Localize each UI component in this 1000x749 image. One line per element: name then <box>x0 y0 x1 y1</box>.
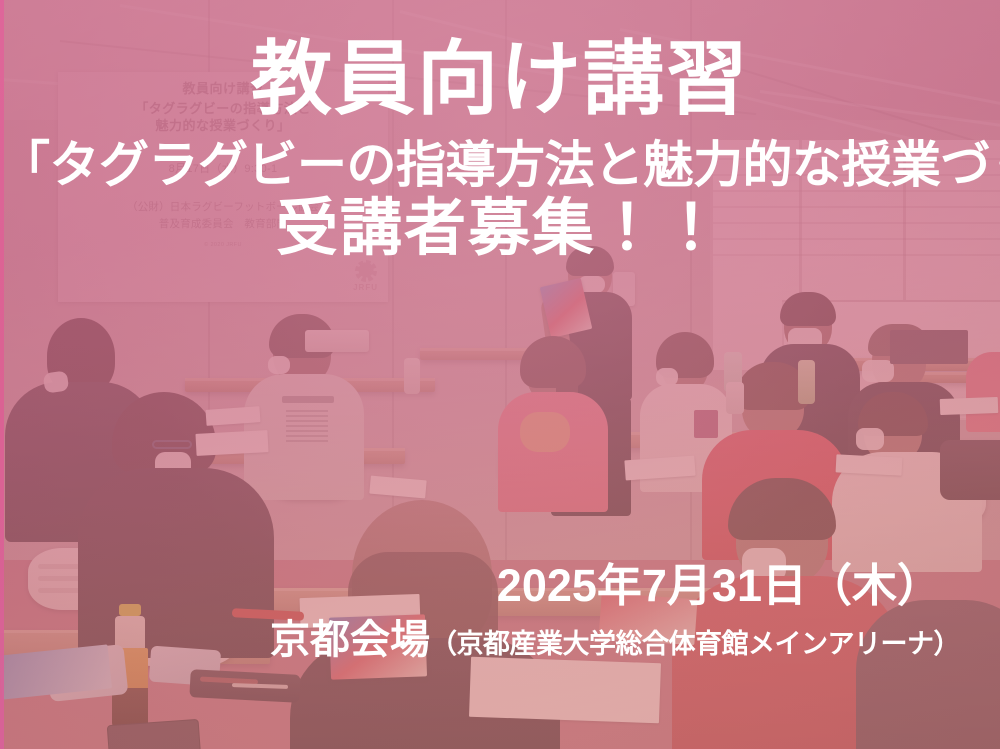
poster-call-to-action: 受講者募集！！ <box>0 198 1000 260</box>
text-overlay: 教員向け講習 「タグラグビーの指導方法と魅力的な授業づくり」 受講者募集！！ 2… <box>0 0 1000 749</box>
event-date: 2025年7月31日（木） <box>497 549 942 614</box>
poster-headline: 教員向け講習 <box>0 40 1000 121</box>
poster-container: 教員向け講習 「タグラグビーの指導方法と 魅力的な授業づくり」 8月17日（水）… <box>0 0 1000 749</box>
poster-subtitle: 「タグラグビーの指導方法と魅力的な授業づくり」 <box>0 140 1000 190</box>
venue-name: 京都会場 <box>270 607 430 665</box>
event-venue: 京都会場 （京都産業大学総合体育館メインアリーナ） <box>270 607 960 665</box>
venue-detail: （京都産業大学総合体育館メインアリーナ） <box>430 622 960 661</box>
